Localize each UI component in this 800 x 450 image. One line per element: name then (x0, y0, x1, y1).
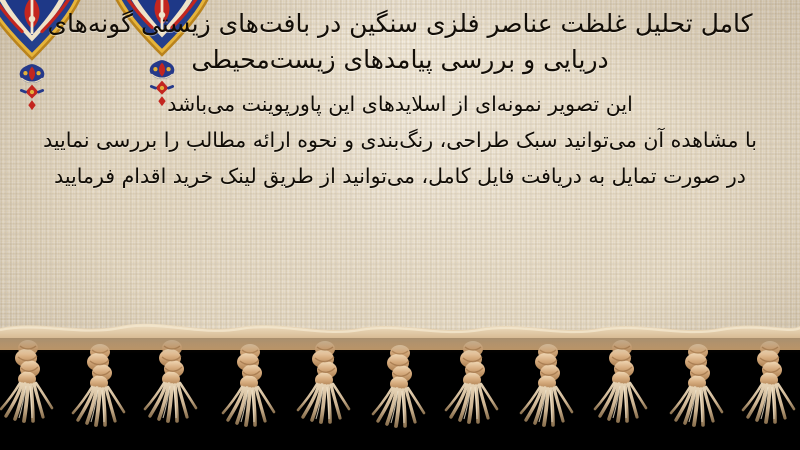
body-line-2: با مشاهده آن می‌توانید سبک طراحی، رنگ‌بن… (26, 129, 774, 152)
presentation-slide: کامل تحلیل غلظت عناصر فلزی سنگین در بافت… (0, 0, 800, 450)
slide-body: این تصویر نمونه‌ای از اسلایدهای این پاور… (26, 93, 774, 188)
carpet-fringe-band (0, 338, 800, 450)
body-line-3: در صورت تمایل به دریافت فایل کامل، می‌تو… (26, 165, 774, 188)
slide-text-block: کامل تحلیل غلظت عناصر فلزی سنگین در بافت… (0, 0, 800, 188)
body-line-1: این تصویر نمونه‌ای از اسلایدهای این پاور… (26, 93, 774, 116)
slide-title: کامل تحلیل غلظت عناصر فلزی سنگین در بافت… (26, 4, 774, 77)
fringe-top-shadow (0, 338, 800, 354)
carpet-fringe-tassels-icon (0, 304, 800, 450)
